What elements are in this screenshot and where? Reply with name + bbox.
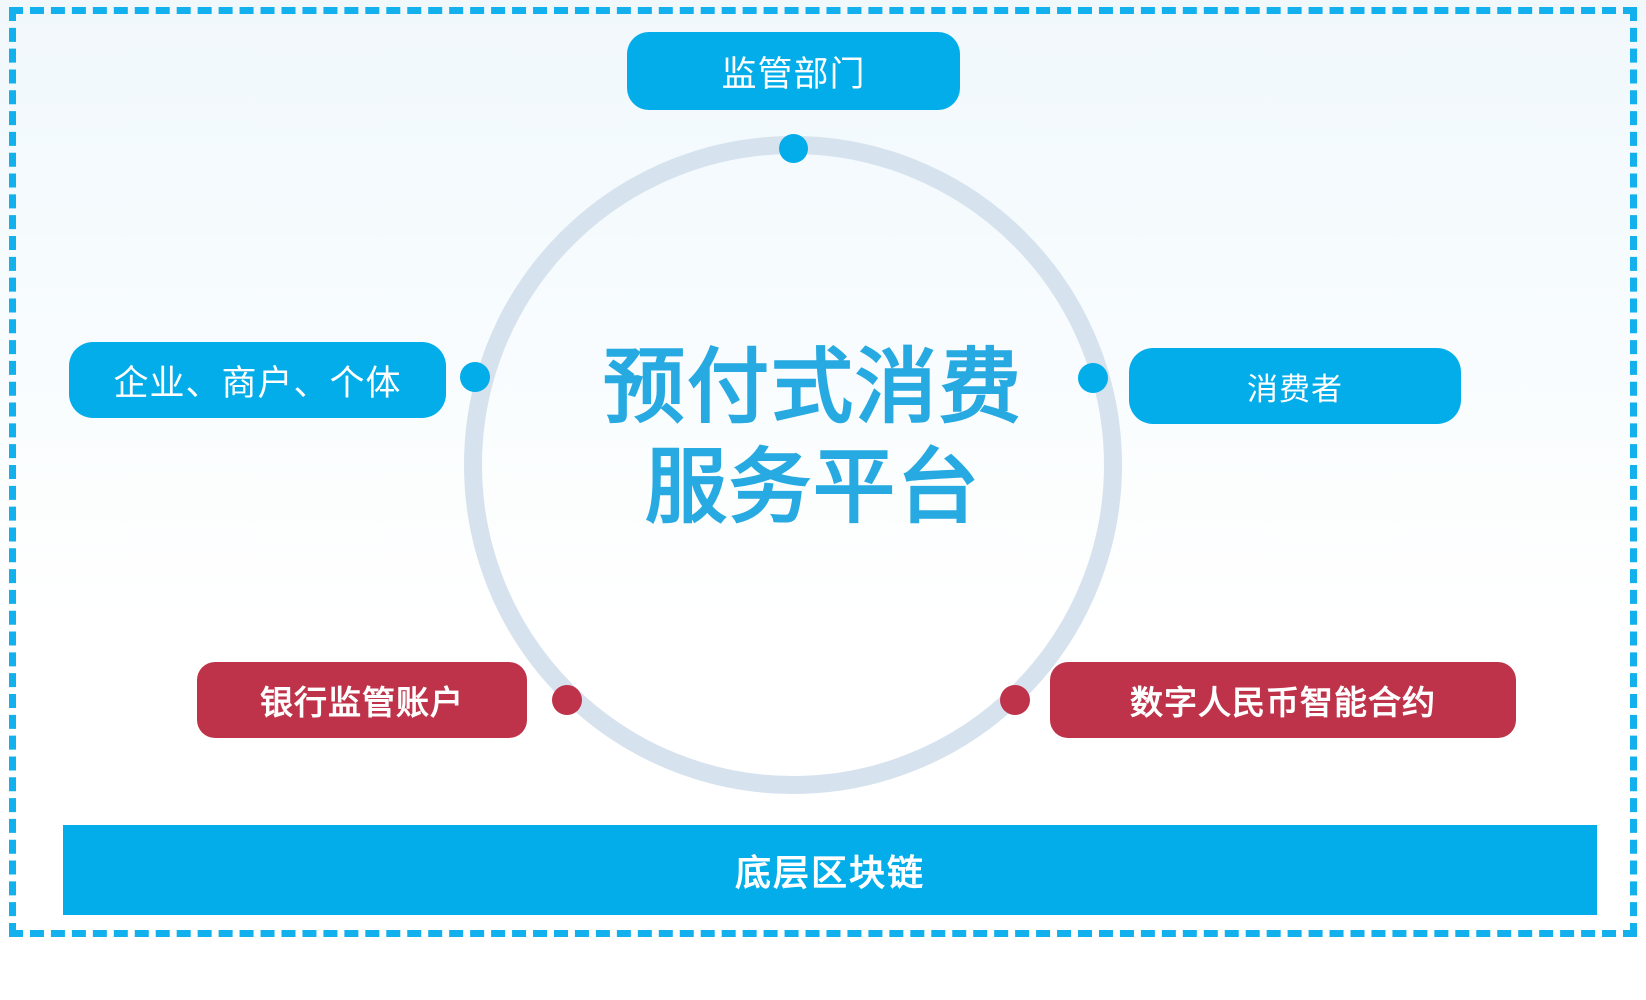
connector-dot-bottom-left: [552, 685, 582, 715]
node-consumers[interactable]: 消费者: [1129, 348, 1461, 424]
node-bank-supervision-account[interactable]: 银行监管账户: [197, 662, 527, 738]
center-title-line-2: 服务平台: [523, 438, 1103, 538]
foundation-bar-underlying-blockchain[interactable]: 底层区块链: [63, 825, 1597, 915]
center-title: 预付式消费 服务平台: [523, 338, 1103, 538]
connector-dot-top: [779, 134, 808, 163]
center-title-line-1: 预付式消费: [523, 338, 1103, 438]
node-digital-rmb-smart-contract[interactable]: 数字人民币智能合约: [1050, 662, 1516, 738]
node-regulatory-department[interactable]: 监管部门: [627, 32, 960, 110]
connector-dot-left: [460, 362, 490, 392]
diagram-canvas: 预付式消费 服务平台 监管部门 企业、商户、个体 消费者 银行监管账户 数字人民…: [0, 0, 1646, 1000]
node-enterprises-merchants-individuals[interactable]: 企业、商户、个体: [69, 342, 446, 418]
connector-dot-right: [1078, 363, 1108, 393]
connector-dot-bottom-right: [1000, 685, 1030, 715]
